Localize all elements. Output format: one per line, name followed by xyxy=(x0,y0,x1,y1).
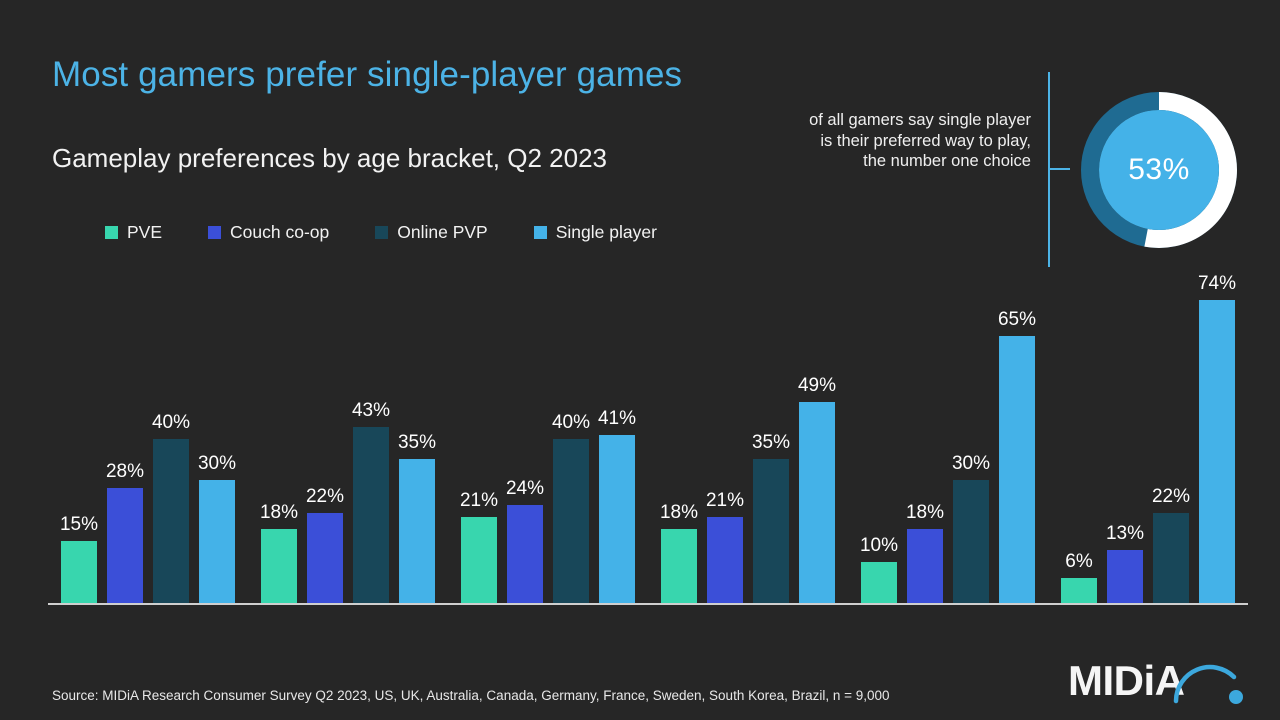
legend-swatch-icon xyxy=(105,226,118,239)
callout-text: of all gamers say single player is their… xyxy=(806,110,1031,172)
bar-item[interactable]: 21% xyxy=(461,275,497,603)
bar-value-label: 10% xyxy=(860,535,898,557)
midia-logo: MIDiA xyxy=(1068,655,1248,707)
donut-center-value: 53% xyxy=(1073,84,1245,256)
legend-item-single-player[interactable]: Single player xyxy=(534,222,657,243)
logo-i: i xyxy=(1144,657,1155,704)
bar-group: 6%13%22%74% xyxy=(1048,275,1248,603)
bar-group: 21%24%40%41% xyxy=(448,275,648,603)
legend-swatch-icon xyxy=(534,226,547,239)
bar-value-label: 22% xyxy=(306,486,344,508)
bar-rect[interactable] xyxy=(953,480,989,603)
legend-item-label: PVE xyxy=(127,222,162,243)
bar-item[interactable]: 10% xyxy=(861,275,897,603)
bar-rect[interactable] xyxy=(707,517,743,603)
bar-value-label: 30% xyxy=(198,453,236,475)
bar-item[interactable]: 13% xyxy=(1107,275,1143,603)
bar-value-label: 65% xyxy=(998,309,1036,331)
bar-item[interactable]: 22% xyxy=(1153,275,1189,603)
bar-group: 18%21%35%49% xyxy=(648,275,848,603)
bar-item[interactable]: 18% xyxy=(261,275,297,603)
legend-item-label: Couch co-op xyxy=(230,222,329,243)
bar-value-label: 41% xyxy=(598,408,636,430)
bar-item[interactable]: 49% xyxy=(799,275,835,603)
bar-value-label: 15% xyxy=(60,514,98,536)
bar-chart: 15%28%40%30%18%22%43%35%21%24%40%41%18%2… xyxy=(48,275,1248,605)
bar-group: 15%28%40%30% xyxy=(48,275,248,603)
bar-rect[interactable] xyxy=(61,541,97,603)
bar-item[interactable]: 41% xyxy=(599,275,635,603)
bar-value-label: 6% xyxy=(1065,551,1092,573)
bar-rect[interactable] xyxy=(199,480,235,603)
bar-group: 18%22%43%35% xyxy=(248,275,448,603)
bar-rect[interactable] xyxy=(261,529,297,603)
bar-rect[interactable] xyxy=(799,402,835,603)
bar-item[interactable]: 22% xyxy=(307,275,343,603)
bar-item[interactable]: 40% xyxy=(153,275,189,603)
bar-item[interactable]: 43% xyxy=(353,275,389,603)
bar-rect[interactable] xyxy=(861,562,897,603)
bar-rect[interactable] xyxy=(1061,578,1097,603)
bar-group: 10%18%30%65% xyxy=(848,275,1048,603)
bar-value-label: 18% xyxy=(260,502,298,524)
bar-rect[interactable] xyxy=(1107,550,1143,603)
bar-rect[interactable] xyxy=(661,529,697,603)
bar-value-label: 21% xyxy=(706,490,744,512)
bar-item[interactable]: 18% xyxy=(907,275,943,603)
bar-value-label: 49% xyxy=(798,375,836,397)
bar-rect[interactable] xyxy=(153,439,189,603)
bar-rect[interactable] xyxy=(753,459,789,603)
bar-item[interactable]: 18% xyxy=(661,275,697,603)
legend-item-couch-co-op[interactable]: Couch co-op xyxy=(208,222,329,243)
logo-mid: MID xyxy=(1068,657,1144,704)
page-title: Most gamers prefer single-player games xyxy=(52,55,682,95)
bar-value-label: 18% xyxy=(660,502,698,524)
bar-rect[interactable] xyxy=(307,513,343,603)
callout-divider-horizontal xyxy=(1048,168,1070,170)
bar-item[interactable]: 15% xyxy=(61,275,97,603)
bar-item[interactable]: 21% xyxy=(707,275,743,603)
bar-item[interactable]: 24% xyxy=(507,275,543,603)
donut-chart: 53% xyxy=(1073,84,1245,256)
bar-rect[interactable] xyxy=(1199,300,1235,603)
bar-value-label: 40% xyxy=(552,412,590,434)
logo-arc-icon xyxy=(1172,653,1250,709)
bar-chart-plot: 15%28%40%30%18%22%43%35%21%24%40%41%18%2… xyxy=(48,275,1248,603)
bar-rect[interactable] xyxy=(1153,513,1189,603)
bar-item[interactable]: 40% xyxy=(553,275,589,603)
bar-value-label: 22% xyxy=(1152,486,1190,508)
page-subtitle: Gameplay preferences by age bracket, Q2 … xyxy=(52,143,607,174)
bar-item[interactable]: 30% xyxy=(199,275,235,603)
bar-rect[interactable] xyxy=(107,488,143,603)
bar-item[interactable]: 35% xyxy=(753,275,789,603)
legend-item-pve[interactable]: PVE xyxy=(105,222,162,243)
bar-item[interactable]: 35% xyxy=(399,275,435,603)
bar-value-label: 28% xyxy=(106,461,144,483)
bar-value-label: 43% xyxy=(352,400,390,422)
chart-legend: PVECouch co-opOnline PVPSingle player xyxy=(105,222,703,243)
bar-rect[interactable] xyxy=(553,439,589,603)
bar-item[interactable]: 65% xyxy=(999,275,1035,603)
bar-item[interactable]: 28% xyxy=(107,275,143,603)
bar-value-label: 18% xyxy=(906,502,944,524)
legend-item-label: Online PVP xyxy=(397,222,487,243)
bar-rect[interactable] xyxy=(999,336,1035,603)
bar-value-label: 40% xyxy=(152,412,190,434)
bar-value-label: 30% xyxy=(952,453,990,475)
legend-item-online-pvp[interactable]: Online PVP xyxy=(375,222,487,243)
bar-value-label: 74% xyxy=(1198,273,1236,295)
bar-value-label: 21% xyxy=(460,490,498,512)
bar-rect[interactable] xyxy=(461,517,497,603)
source-note: Source: MIDiA Research Consumer Survey Q… xyxy=(52,688,890,703)
bar-value-label: 24% xyxy=(506,478,544,500)
legend-item-label: Single player xyxy=(556,222,657,243)
bar-item[interactable]: 6% xyxy=(1061,275,1097,603)
bar-value-label: 13% xyxy=(1106,523,1144,545)
bar-rect[interactable] xyxy=(599,435,635,603)
bar-value-label: 35% xyxy=(398,432,436,454)
x-axis-line xyxy=(48,603,1248,605)
logo-wordmark: MIDiA xyxy=(1068,657,1185,705)
bar-rect[interactable] xyxy=(507,505,543,603)
bar-item[interactable]: 74% xyxy=(1199,275,1235,603)
slide-root: Most gamers prefer single-player games G… xyxy=(0,0,1280,720)
bar-item[interactable]: 30% xyxy=(953,275,989,603)
bar-rect[interactable] xyxy=(353,427,389,603)
legend-swatch-icon xyxy=(208,226,221,239)
bar-rect[interactable] xyxy=(399,459,435,603)
legend-swatch-icon xyxy=(375,226,388,239)
bar-rect[interactable] xyxy=(907,529,943,603)
bar-value-label: 35% xyxy=(752,432,790,454)
